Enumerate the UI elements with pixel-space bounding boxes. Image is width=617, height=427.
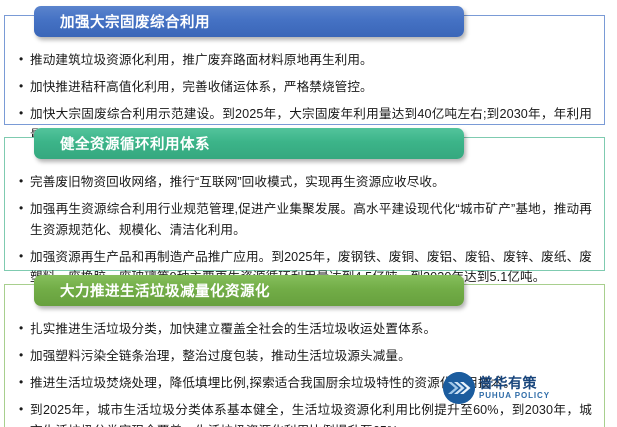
list-item: 扎实推进生活垃圾分类，加快建立覆盖全社会的生活垃圾收运处置体系。	[19, 319, 592, 340]
section-title: 健全资源循环利用体系	[34, 133, 210, 154]
section-header-pill: 加强大宗固废综合利用	[34, 6, 464, 37]
list-item: 推进生活垃圾焚烧处理，降低填埋比例,探索适合我国厨余垃圾特性的资源化利用技术。	[19, 373, 592, 394]
section-header-pill: 健全资源循环利用体系	[34, 128, 464, 159]
section-title: 大力推进生活垃圾减量化资源化	[34, 280, 270, 301]
list-item: 加强塑料污染全链条治理，整治过度包装，推动生活垃圾源头减量。	[19, 346, 592, 367]
document-page: 推动建筑垃圾资源化利用，推广废弃路面材料原地再生利用。 加快推进秸秆高值化利用，…	[0, 0, 617, 427]
section-title: 加强大宗固废综合利用	[34, 11, 210, 32]
list-item: 完善废旧物资回收网络，推行“互联网”回收模式，实现再生资源应收尽收。	[19, 172, 592, 193]
section-header-pill: 大力推进生活垃圾减量化资源化	[34, 275, 464, 306]
list-item: 加强再生资源综合利用行业规范管理,促进产业集聚发展。高水平建设现代化“城市矿产”…	[19, 199, 592, 240]
section-bullet-list: 扎实推进生活垃圾分类，加快建立覆盖全社会的生活垃圾收运处置体系。 加强塑料污染全…	[5, 285, 604, 427]
list-item: 加快推进秸秆高值化利用，完善收储运体系，严格禁烧管控。	[19, 77, 592, 98]
section-bullet-list: 完善废旧物资回收网络，推行“互联网”回收模式，实现再生资源应收尽收。 加强再生资…	[5, 138, 604, 294]
list-item: 推动建筑垃圾资源化利用，推广废弃路面材料原地再生利用。	[19, 50, 592, 71]
list-item: 到2025年，城市生活垃圾分类体系基本健全，生活垃圾资源化利用比例提升至60%，…	[19, 400, 592, 427]
